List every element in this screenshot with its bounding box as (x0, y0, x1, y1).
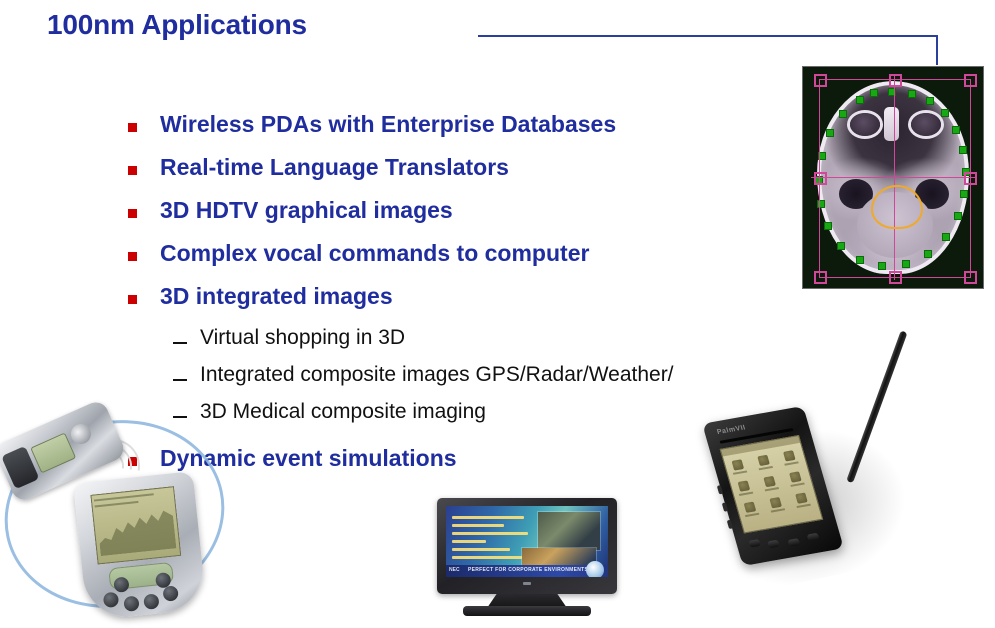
app-icon (769, 497, 782, 508)
roi-handle-mid-left[interactable] (814, 172, 827, 185)
nec-brand-label: NEC (449, 567, 460, 573)
app-icon (783, 450, 796, 461)
list-item-label: 3D HDTV graphical images (160, 197, 453, 224)
app-icon (744, 502, 757, 513)
app-icon-label (796, 504, 810, 508)
list-item-label: Real-time Language Translators (160, 154, 509, 181)
palm-pda-screen (90, 486, 181, 564)
brain-mri-image (803, 67, 983, 288)
screen-text-line (452, 524, 504, 527)
roi-handle-bottom-left[interactable] (814, 271, 827, 284)
banner-orb-icon (586, 561, 604, 577)
crosshair-vertical (894, 75, 895, 280)
app-icon (763, 476, 776, 487)
app-icon (757, 455, 770, 466)
screen-text-line (452, 548, 510, 551)
app-icon (732, 459, 745, 470)
app-icon-label (739, 492, 753, 496)
square-bullet-icon (128, 252, 137, 261)
app-icon (789, 471, 802, 482)
dash-bullet-icon (173, 342, 187, 344)
palm-pda-device (73, 471, 207, 621)
square-bullet-icon (128, 295, 137, 304)
app-icon-label (784, 461, 798, 465)
list-item-label: Complex vocal commands to computer (160, 240, 589, 267)
connector-horizontal-segment (478, 35, 938, 37)
page-title: 100nm Applications (47, 9, 307, 41)
screen-text-line (452, 532, 528, 535)
app-icon-label (745, 513, 759, 517)
palm-vii-image: PalmVII (700, 320, 940, 610)
roi-handle-mid-right[interactable] (964, 172, 977, 185)
list-item: 3D HDTV graphical images (128, 197, 888, 240)
screen-text-line (452, 556, 522, 559)
flat-panel-display-image: NEC PERFECT FOR CORPORATE ENVIRONMENTS (437, 498, 617, 620)
lesion-outline[interactable] (871, 185, 923, 229)
app-icon-label (733, 470, 747, 474)
roi-handle-bottom-center[interactable] (889, 271, 902, 284)
square-bullet-icon (128, 166, 137, 175)
list-item: Complex vocal commands to computer (128, 240, 888, 283)
roi-handle-top-left[interactable] (814, 74, 827, 87)
app-icon-label (765, 487, 779, 491)
screen-inset-photo-top (538, 512, 600, 550)
square-bullet-icon (128, 123, 137, 132)
roi-bounding-box[interactable] (819, 79, 971, 278)
wireless-devices-image (0, 415, 244, 620)
roi-handle-top-right[interactable] (964, 74, 977, 87)
screen-banner-text: PERFECT FOR CORPORATE ENVIRONMENTS (468, 567, 588, 573)
dash-bullet-icon (173, 379, 187, 381)
list-item: Real-time Language Translators (128, 154, 888, 197)
app-icon-label (771, 508, 785, 512)
sub-list-item-label: Integrated composite images GPS/Radar/We… (200, 363, 674, 387)
screen-text-line (95, 501, 139, 508)
screen-text-line (94, 493, 154, 501)
display-stand-base (463, 606, 591, 616)
screen-text-line (452, 540, 486, 543)
list-item: Wireless PDAs with Enterprise Databases (128, 111, 888, 154)
display-screen: NEC PERFECT FOR CORPORATE ENVIRONMENTS (446, 506, 608, 577)
connector-vertical-segment (936, 35, 938, 65)
app-icon-label (759, 466, 773, 470)
display-bezel: NEC PERFECT FOR CORPORATE ENVIRONMENTS (437, 498, 617, 594)
mri-frame (803, 67, 983, 288)
screen-slide-text-block (452, 516, 532, 564)
display-power-led (523, 582, 531, 585)
app-icon (795, 492, 808, 503)
screen-text-line (452, 516, 524, 519)
list-item-label: 3D integrated images (160, 283, 393, 310)
roi-handle-top-center[interactable] (889, 74, 902, 87)
slide-canvas: 100nm Applications Wireless PDAs with En… (0, 0, 995, 620)
app-icon (738, 480, 751, 491)
roi-handle-bottom-right[interactable] (964, 271, 977, 284)
app-icon-label (790, 483, 804, 487)
square-bullet-icon (128, 209, 137, 218)
screen-chart (96, 504, 176, 556)
list-item-label: Wireless PDAs with Enterprise Databases (160, 111, 616, 138)
connector-line (478, 35, 938, 65)
sub-list-item-label: Virtual shopping in 3D (200, 326, 405, 350)
screen-banner: NEC PERFECT FOR CORPORATE ENVIRONMENTS (446, 565, 608, 577)
